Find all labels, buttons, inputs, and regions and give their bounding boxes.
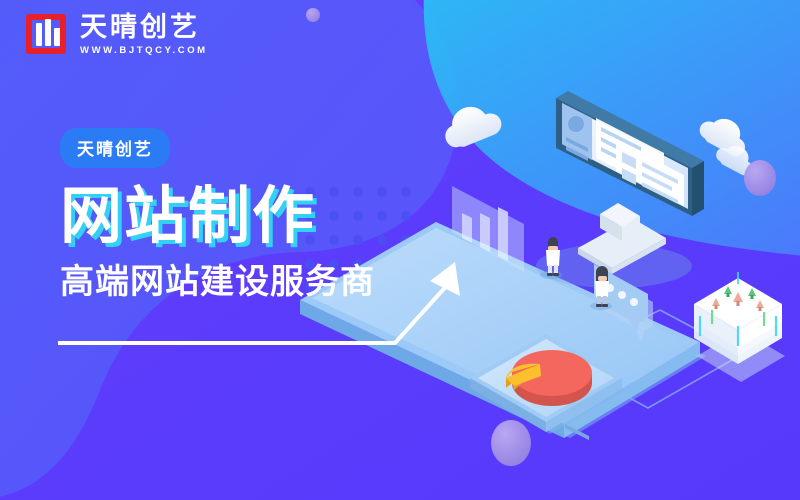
site-logo[interactable]: 天晴创艺 WWW.BJTQCY.COM <box>26 14 208 56</box>
sphere-right <box>744 160 776 196</box>
page-title: 网站制作 <box>60 185 375 247</box>
tqcy-logo-mark-icon <box>26 14 70 56</box>
copy-block: 天晴创艺 网站制作 高端网站建设服务商 <box>60 128 375 299</box>
sphere-bottom <box>491 420 531 466</box>
logo-brand-name: 天晴创艺 <box>80 14 208 41</box>
promo-banner: 天晴创艺 WWW.BJTQCY.COM 天晴创艺 网站制作 高端网站建设服务商 <box>0 0 800 500</box>
page-subtitle: 高端网站建设服务商 <box>60 265 375 299</box>
logo-website-url: WWW.BJTQCY.COM <box>80 46 208 56</box>
sphere-small-top <box>306 8 320 22</box>
brand-badge: 天晴创艺 <box>60 128 170 168</box>
logo-text-group: 天晴创艺 WWW.BJTQCY.COM <box>80 14 208 56</box>
